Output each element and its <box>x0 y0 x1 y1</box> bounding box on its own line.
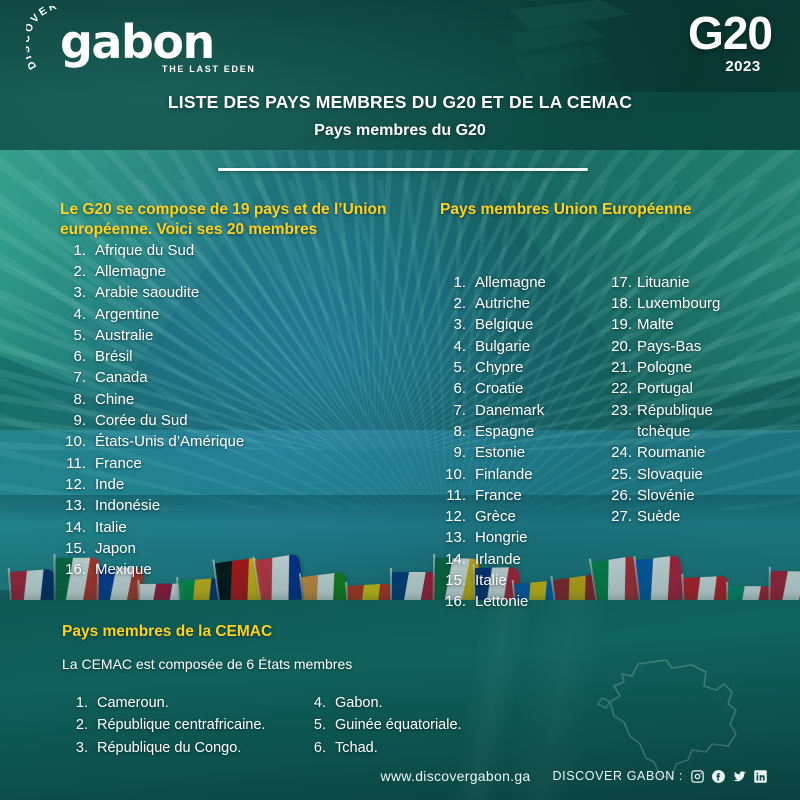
list-item: 2.Allemagne <box>60 261 420 282</box>
list-item: 1.Allemagne <box>440 272 608 293</box>
list-item: 8.Chine <box>60 389 420 410</box>
list-item-label: Cameroun. <box>97 692 169 714</box>
list-item-label: Danemark <box>475 400 544 421</box>
eu-country-list-first: 1.Allemagne2.Autriche3.Belgique4.Bulgari… <box>440 272 608 613</box>
footer-website[interactable]: www.discovergabon.ga <box>381 768 531 784</box>
list-item-number: 2. <box>60 261 86 282</box>
list-item-number: 26. <box>608 485 632 506</box>
list-item-label: Finlande <box>475 464 533 485</box>
list-item-number: 14. <box>60 517 86 538</box>
page-subtitle: Pays membres du G20 <box>0 122 800 140</box>
eu-section-heading: Pays membres Union Européenne <box>440 200 760 220</box>
list-item-number: 8. <box>60 389 86 410</box>
list-item-label: Lettonie <box>475 591 528 612</box>
svg-text:DISCOVER: DISCOVER <box>26 6 60 72</box>
list-item-label: Australie <box>95 325 153 346</box>
list-item: 17.Lituanie <box>608 272 758 293</box>
list-item-label: Grèce <box>475 506 516 527</box>
list-item-number: 5. <box>60 325 86 346</box>
list-item: 19.Malte <box>608 314 758 335</box>
list-item-number: 11. <box>60 453 86 474</box>
list-item-label: France <box>95 453 142 474</box>
list-item: 2.République centrafricaine. <box>62 714 300 736</box>
list-item-label: Tchad. <box>335 737 378 759</box>
discover-gabon-logo[interactable]: DISCOVER gabon THE LAST EDEN <box>26 6 256 80</box>
list-item: 6.Tchad. <box>300 737 538 759</box>
list-item-label: Guinée équatoriale. <box>335 714 462 736</box>
cemac-section-heading: Pays membres de la CEMAC <box>62 622 622 642</box>
list-item-label: Estonie <box>475 442 525 463</box>
list-item-number: 3. <box>440 314 466 335</box>
list-item-label: Irlande <box>475 549 521 570</box>
linkedin-icon[interactable] <box>753 769 768 784</box>
list-item-label: Inde <box>95 474 124 495</box>
list-item-label: Mexique <box>95 559 152 580</box>
list-item: 26.Slovénie <box>608 485 758 506</box>
list-item-label: Italie <box>95 517 127 538</box>
g20-section: Le G20 se compose de 19 pays et de l’Uni… <box>60 200 420 580</box>
list-item-number: 5. <box>300 714 326 736</box>
list-item: 5.Chypre <box>440 357 608 378</box>
list-item-number: 11. <box>440 485 466 506</box>
list-item: 12.Inde <box>60 474 420 495</box>
list-item-number: 20. <box>608 336 632 357</box>
list-item-number: 10. <box>440 464 466 485</box>
list-item: 12.Grèce <box>440 506 608 527</box>
list-item: 4.Bulgarie <box>440 336 608 357</box>
list-item-label: Espagne <box>475 421 534 442</box>
list-item: 5.Guinée équatoriale. <box>300 714 538 736</box>
list-item-number: 22. <box>608 378 632 399</box>
cemac-country-list-first: 1.Cameroun.2.République centrafricaine.3… <box>62 692 300 759</box>
g20-country-list: 1.Afrique du Sud2.Allemagne3.Arabie saou… <box>60 240 420 581</box>
list-item: 11.France <box>60 453 420 474</box>
list-item-label: Afrique du Sud <box>95 240 194 261</box>
list-item: 8.Espagne <box>440 421 608 442</box>
list-item-number: 15. <box>60 538 86 559</box>
list-item-label: France <box>475 485 522 506</box>
list-item-label: Croatie <box>475 378 523 399</box>
logo-arc-text: DISCOVER <box>26 6 60 72</box>
list-item-number: 7. <box>60 367 86 388</box>
list-item: 22.Portugal <box>608 378 758 399</box>
list-item-label: Italie <box>475 570 507 591</box>
list-item-number: 15. <box>440 570 466 591</box>
instagram-icon[interactable] <box>690 769 705 784</box>
eu-section: Pays membres Union Européenne 1.Allemagn… <box>440 200 760 613</box>
list-item: 10.Finlande <box>440 464 608 485</box>
poster-canvas: DISCOVER gabon THE LAST EDEN G20 2023 LI… <box>0 0 800 800</box>
list-item-label: République tchèque <box>637 400 758 443</box>
list-item: 3.Belgique <box>440 314 608 335</box>
list-item: 15.Japon <box>60 538 420 559</box>
list-item-number: 16. <box>60 559 86 580</box>
list-item: 4.Argentine <box>60 304 420 325</box>
list-item: 9.Estonie <box>440 442 608 463</box>
list-item-label: Corée du Sud <box>95 410 188 431</box>
footer: www.discovergabon.ga DISCOVER GABON : <box>0 768 800 784</box>
list-item: 27.Suède <box>608 506 758 527</box>
list-item-label: Pays-Bas <box>637 336 701 357</box>
list-item-number: 5. <box>440 357 466 378</box>
list-item-label: Slovaquie <box>637 464 703 485</box>
list-item: 15.Italie <box>440 570 608 591</box>
list-item-number: 24. <box>608 442 632 463</box>
list-item-number: 27. <box>608 506 632 527</box>
list-item-label: Belgique <box>475 314 533 335</box>
g20-year: 2023 <box>714 58 772 75</box>
list-item-label: Brésil <box>95 346 133 367</box>
list-item: 14.Italie <box>60 517 420 538</box>
list-item-number: 14. <box>440 549 466 570</box>
list-item-number: 7. <box>440 400 466 421</box>
cemac-description: La CEMAC est composée de 6 États membres <box>62 656 622 672</box>
list-item-number: 4. <box>440 336 466 357</box>
list-item: 24.Roumanie <box>608 442 758 463</box>
list-item-number: 13. <box>60 495 86 516</box>
list-item: 2.Autriche <box>440 293 608 314</box>
list-item-label: Arabie saoudite <box>95 282 199 303</box>
list-item: 21.Pologne <box>608 357 758 378</box>
list-item-number: 9. <box>60 410 86 431</box>
list-item-number: 3. <box>60 282 86 303</box>
list-item-label: Allemagne <box>95 261 166 282</box>
list-item-label: Chine <box>95 389 134 410</box>
list-item-number: 17. <box>608 272 632 293</box>
list-item: 10.États-Unis d’Amérique <box>60 431 420 452</box>
list-item-number: 12. <box>440 506 466 527</box>
list-item-label: Canada <box>95 367 148 388</box>
list-item-label: Suède <box>637 506 680 527</box>
list-item-number: 2. <box>62 714 88 736</box>
social-icons <box>690 769 768 784</box>
list-item-label: Allemagne <box>475 272 546 293</box>
list-item: 9.Corée du Sud <box>60 410 420 431</box>
list-item-label: Hongrie <box>475 527 528 548</box>
list-item: 6.Brésil <box>60 346 420 367</box>
list-item-number: 9. <box>440 442 466 463</box>
list-item-label: Argentine <box>95 304 159 325</box>
list-item-label: Gabon. <box>335 692 383 714</box>
list-item-number: 6. <box>300 737 326 759</box>
page-title: LISTE DES PAYS MEMBRES DU G20 ET DE LA C… <box>0 92 800 113</box>
list-item: 13.Indonésie <box>60 495 420 516</box>
cemac-country-list-second: 4.Gabon.5.Guinée équatoriale.6.Tchad. <box>300 692 538 759</box>
list-item-number: 1. <box>62 692 88 714</box>
list-item-number: 13. <box>440 527 466 548</box>
list-item-label: Japon <box>95 538 136 559</box>
list-item-number: 16. <box>440 591 466 612</box>
list-item: 20.Pays-Bas <box>608 336 758 357</box>
list-item: 11.France <box>440 485 608 506</box>
list-item-label: Pologne <box>637 357 692 378</box>
list-item-label: États-Unis d’Amérique <box>95 431 244 452</box>
list-item-label: Indonésie <box>95 495 160 516</box>
list-item: 14.Irlande <box>440 549 608 570</box>
list-item-label: Bulgarie <box>475 336 530 357</box>
list-item-number: 6. <box>60 346 86 367</box>
list-item: 18.Luxembourg <box>608 293 758 314</box>
list-item-number: 4. <box>60 304 86 325</box>
list-item-number: 1. <box>60 240 86 261</box>
cemac-section: Pays membres de la CEMAC La CEMAC est co… <box>62 622 622 759</box>
g20-section-heading: Le G20 se compose de 19 pays et de l’Uni… <box>60 200 420 240</box>
list-item-number: 19. <box>608 314 632 335</box>
list-item: 6.Croatie <box>440 378 608 399</box>
list-item-number: 21. <box>608 357 632 378</box>
list-item: 13.Hongrie <box>440 527 608 548</box>
list-item-number: 12. <box>60 474 86 495</box>
list-item-label: Chypre <box>475 357 523 378</box>
list-item: 1.Afrique du Sud <box>60 240 420 261</box>
list-item: 1.Cameroun. <box>62 692 300 714</box>
list-item-number: 25. <box>608 464 632 485</box>
list-item-label: Slovénie <box>637 485 695 506</box>
list-item-label: République du Congo. <box>97 737 241 759</box>
list-item-number: 3. <box>62 737 88 759</box>
logo-tagline: THE LAST EDEN <box>162 64 256 74</box>
list-item-number: 10. <box>60 431 86 452</box>
g20-summit-mark: G20 2023 <box>688 10 772 75</box>
list-item-number: 18. <box>608 293 632 314</box>
twitter-icon[interactable] <box>732 769 747 784</box>
list-item: 16.Mexique <box>60 559 420 580</box>
list-item-label: Autriche <box>475 293 530 314</box>
list-item-label: Lituanie <box>637 272 690 293</box>
list-item-label: Malte <box>637 314 674 335</box>
header-block: LISTE DES PAYS MEMBRES DU G20 ET DE LA C… <box>0 92 800 140</box>
list-item: 3.Arabie saoudite <box>60 282 420 303</box>
list-item-number: 2. <box>440 293 466 314</box>
g20-label: G20 <box>688 10 772 56</box>
list-item: 7.Canada <box>60 367 420 388</box>
list-item-label: Luxembourg <box>637 293 720 314</box>
logo-wordmark: gabon <box>60 15 214 69</box>
list-item-number: 8. <box>440 421 466 442</box>
eu-country-list-second: 17.Lituanie18.Luxembourg19.Malte20.Pays-… <box>608 272 758 613</box>
footer-social-label: DISCOVER GABON : <box>553 769 683 783</box>
list-item: 4.Gabon. <box>300 692 538 714</box>
list-item: 5.Australie <box>60 325 420 346</box>
list-item: 3.République du Congo. <box>62 737 300 759</box>
facebook-icon[interactable] <box>711 769 726 784</box>
list-item: 23.République tchèque <box>608 400 758 443</box>
header-divider <box>218 168 588 171</box>
list-item: 16.Lettonie <box>440 591 608 612</box>
list-item-label: République centrafricaine. <box>97 714 265 736</box>
list-item-number: 23. <box>608 400 632 421</box>
list-item-label: Portugal <box>637 378 693 399</box>
list-item: 25.Slovaquie <box>608 464 758 485</box>
list-item-number: 4. <box>300 692 326 714</box>
list-item-label: Roumanie <box>637 442 705 463</box>
list-item-number: 6. <box>440 378 466 399</box>
list-item: 7.Danemark <box>440 400 608 421</box>
list-item-number: 1. <box>440 272 466 293</box>
